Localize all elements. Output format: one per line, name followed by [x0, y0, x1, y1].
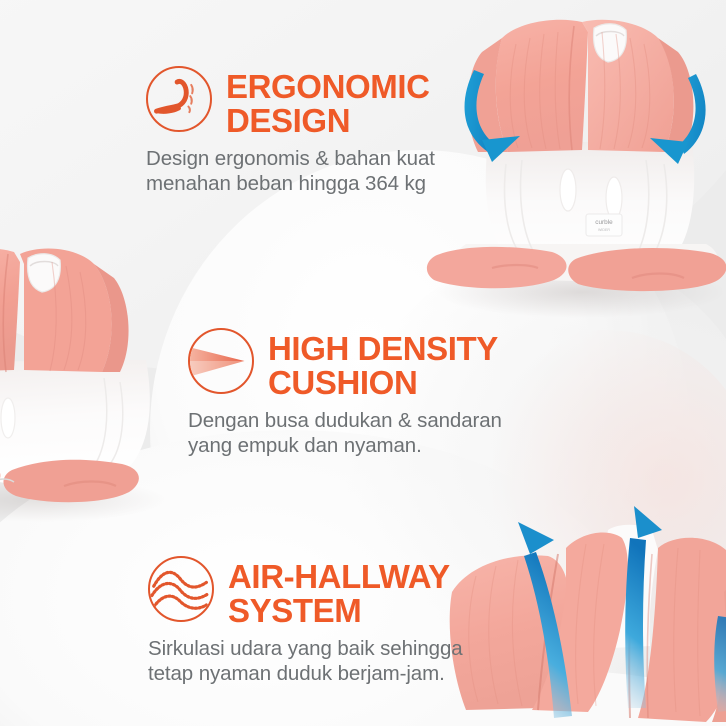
product-image-posture-chair-front: curble WIDER — [396, 0, 726, 322]
density-wedge-icon — [188, 328, 254, 394]
feature-title: HIGH DENSITY CUSHION — [268, 328, 498, 399]
feature-description: Dengan busa dudukan & sandaran yang empu… — [188, 408, 502, 458]
feature-header: HIGH DENSITY CUSHION — [188, 328, 502, 399]
feature-title: ERGONOMIC DESIGN — [226, 66, 430, 137]
shell-vent-left — [560, 169, 576, 211]
svg-text:WIDER: WIDER — [598, 228, 610, 232]
shell-vent-right — [1, 398, 15, 438]
product-brand-label: curble WIDER — [586, 214, 622, 236]
feature-block-ergonomic-design: ERGONOMIC DESIGN Design ergonomis & baha… — [146, 66, 435, 196]
product-image-posture-chair-angled: curble WIDER — [0, 232, 208, 522]
feature-block-high-density-cushion: HIGH DENSITY CUSHION Dengan busa dudukan… — [188, 328, 502, 458]
shell-vent-right — [606, 177, 622, 219]
seat-pad-right — [568, 248, 726, 291]
product-image-airflow-closeup — [462, 496, 726, 726]
feature-title: AIR-HALLWAY SYSTEM — [228, 556, 450, 627]
infographic-canvas: curble WIDER — [0, 0, 726, 726]
spine-posture-icon — [146, 66, 212, 132]
air-waves-icon — [148, 556, 214, 622]
feature-header: AIR-HALLWAY SYSTEM — [148, 556, 463, 627]
feature-description: Sirkulasi udara yang baik sehingga tetap… — [148, 636, 463, 686]
feature-header: ERGONOMIC DESIGN — [146, 66, 435, 137]
svg-text:curble: curble — [595, 219, 613, 226]
feature-description: Design ergonomis & bahan kuat menahan be… — [146, 146, 435, 196]
backrest-cushion-left — [496, 20, 588, 152]
feature-block-air-hallway-system: AIR-HALLWAY SYSTEM Sirkulasi udara yang … — [148, 556, 463, 686]
